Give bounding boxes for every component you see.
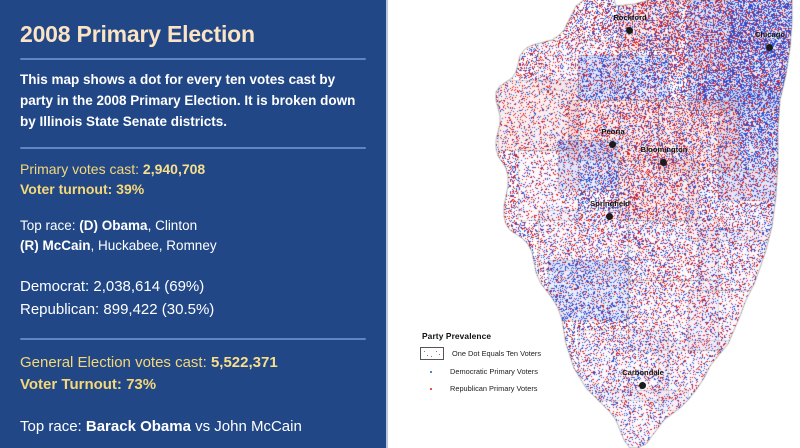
divider-intro	[20, 147, 366, 149]
election-map-page: 2008 Primary Election This map shows a d…	[0, 0, 800, 448]
rep-other-candidates: , Huckabee, Romney	[91, 238, 217, 253]
legend-sample-dot	[436, 351, 437, 352]
spacer-before-footnote	[20, 437, 366, 448]
legend-sample-dot	[427, 355, 428, 356]
page-title: 2008 Primary Election	[20, 22, 366, 47]
legend-title: Party Prevalence	[422, 331, 570, 341]
info-panel: 2008 Primary Election This map shows a d…	[0, 0, 388, 448]
legend-item: One Dot Equals Ten Voters	[420, 347, 570, 360]
legend-sample-dot	[439, 354, 440, 355]
dem-winner-name: Obama	[102, 218, 148, 233]
legend-rows: One Dot Equals Ten VotersDemocratic Prim…	[420, 347, 570, 394]
legend-item-label: One Dot Equals Ten Voters	[452, 349, 541, 358]
legend-dot-sample-box	[420, 347, 444, 360]
democrat-totals-line: Democrat: 2,038,614 (69%)	[20, 276, 366, 299]
legend-dot-swatch	[420, 366, 442, 377]
map-area[interactable]: RockfordChicagoPeoriaBloomingtonSpringfi…	[388, 0, 800, 448]
spacer-after-general-stats	[20, 396, 366, 416]
divider-top	[20, 58, 366, 60]
primary-votes-cast-label: Primary votes cast:	[20, 161, 143, 177]
legend-item-label: Democratic Primary Voters	[450, 367, 538, 376]
general-race-opponent: vs John McCain	[191, 418, 302, 435]
general-race-label: Top race:	[20, 418, 86, 435]
dem-other-candidates: , Clinton	[148, 218, 198, 233]
primary-turnout-line: Voter turnout: 39%	[20, 179, 366, 199]
legend-sample-dot	[424, 351, 425, 352]
spacer-after-top-race	[20, 256, 366, 276]
legend-swatch-dot	[430, 388, 432, 390]
general-votes-cast-label: General Election votes cast:	[20, 354, 211, 371]
legend-item: Democratic Primary Voters	[420, 366, 570, 377]
intro-description: This map shows a dot for every ten votes…	[20, 70, 366, 133]
legend-swatch-dot	[430, 371, 432, 373]
legend-item-label: Republican Primary Voters	[450, 384, 538, 393]
divider-general	[20, 338, 366, 340]
legend-sample-dot	[431, 356, 432, 357]
general-race-winner: Barack Obama	[86, 418, 191, 435]
rep-party-tag: (R)	[20, 238, 43, 253]
primary-votes-cast-value: 2,940,708	[143, 161, 205, 177]
general-votes-cast-line: General Election votes cast: 5,522,371	[20, 352, 366, 374]
dem-party-tag: (D)	[79, 218, 102, 233]
legend-item: Republican Primary Voters	[420, 383, 570, 394]
primary-votes-cast-line: Primary votes cast: 2,940,708	[20, 159, 366, 179]
map-legend: Party Prevalence One Dot Equals Ten Vote…	[420, 331, 570, 400]
top-race-label: Top race:	[20, 218, 79, 233]
general-votes-cast-value: 5,522,371	[211, 354, 278, 371]
rep-winner-name: McCain	[43, 238, 91, 253]
spacer-after-primary-stats	[20, 200, 366, 216]
primary-top-race-rep: (R) McCain, Huckabee, Romney	[20, 236, 366, 256]
general-turnout-line: Voter Turnout: 73%	[20, 374, 366, 396]
general-top-race-line: Top race: Barack Obama vs John McCain	[20, 416, 366, 437]
republican-totals-line: Republican: 899,422 (30.5%)	[20, 299, 366, 322]
primary-top-race-dem: Top race: (D) Obama, Clinton	[20, 216, 366, 236]
legend-dot-swatch	[420, 383, 442, 394]
